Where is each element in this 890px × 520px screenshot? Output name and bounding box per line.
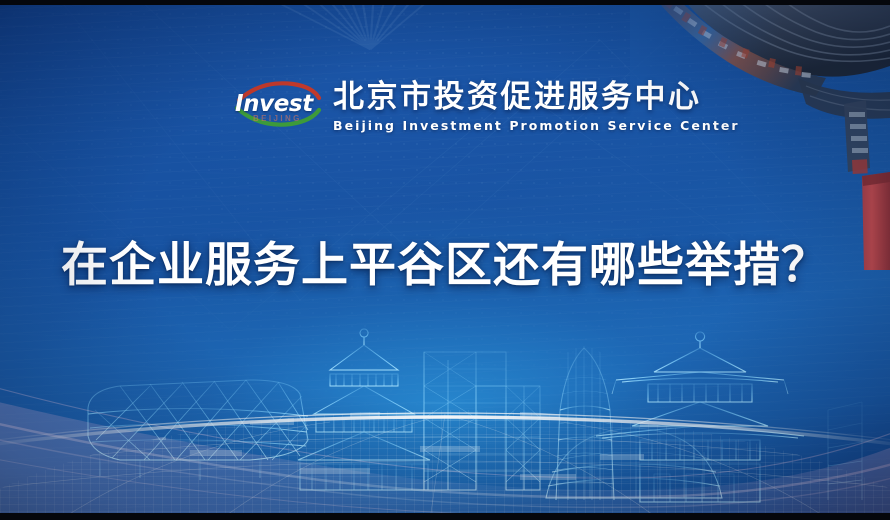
letterbox-bar-bottom [0, 513, 890, 520]
letterbox-bar-top [0, 0, 890, 5]
brand-lockup: Invest BEIJING 北京市投资促进服务中心 Beijing Inves… [231, 78, 740, 133]
logo-subwordmark: BEIJING [253, 114, 302, 123]
slide-canvas: Invest BEIJING 北京市投资促进服务中心 Beijing Inves… [0, 0, 890, 520]
invest-beijing-logo-icon: Invest BEIJING [231, 78, 323, 130]
brand-titles: 北京市投资促进服务中心 Beijing Investment Promotion… [333, 78, 740, 133]
headline-text: 在企业服务上平谷区还有哪些举措？ [0, 226, 890, 295]
brand-name-cn: 北京市投资促进服务中心 [333, 79, 740, 115]
rose-light-ribbon-decor [0, 340, 890, 520]
brand-name-en: Beijing Investment Promotion Service Cen… [333, 118, 740, 133]
